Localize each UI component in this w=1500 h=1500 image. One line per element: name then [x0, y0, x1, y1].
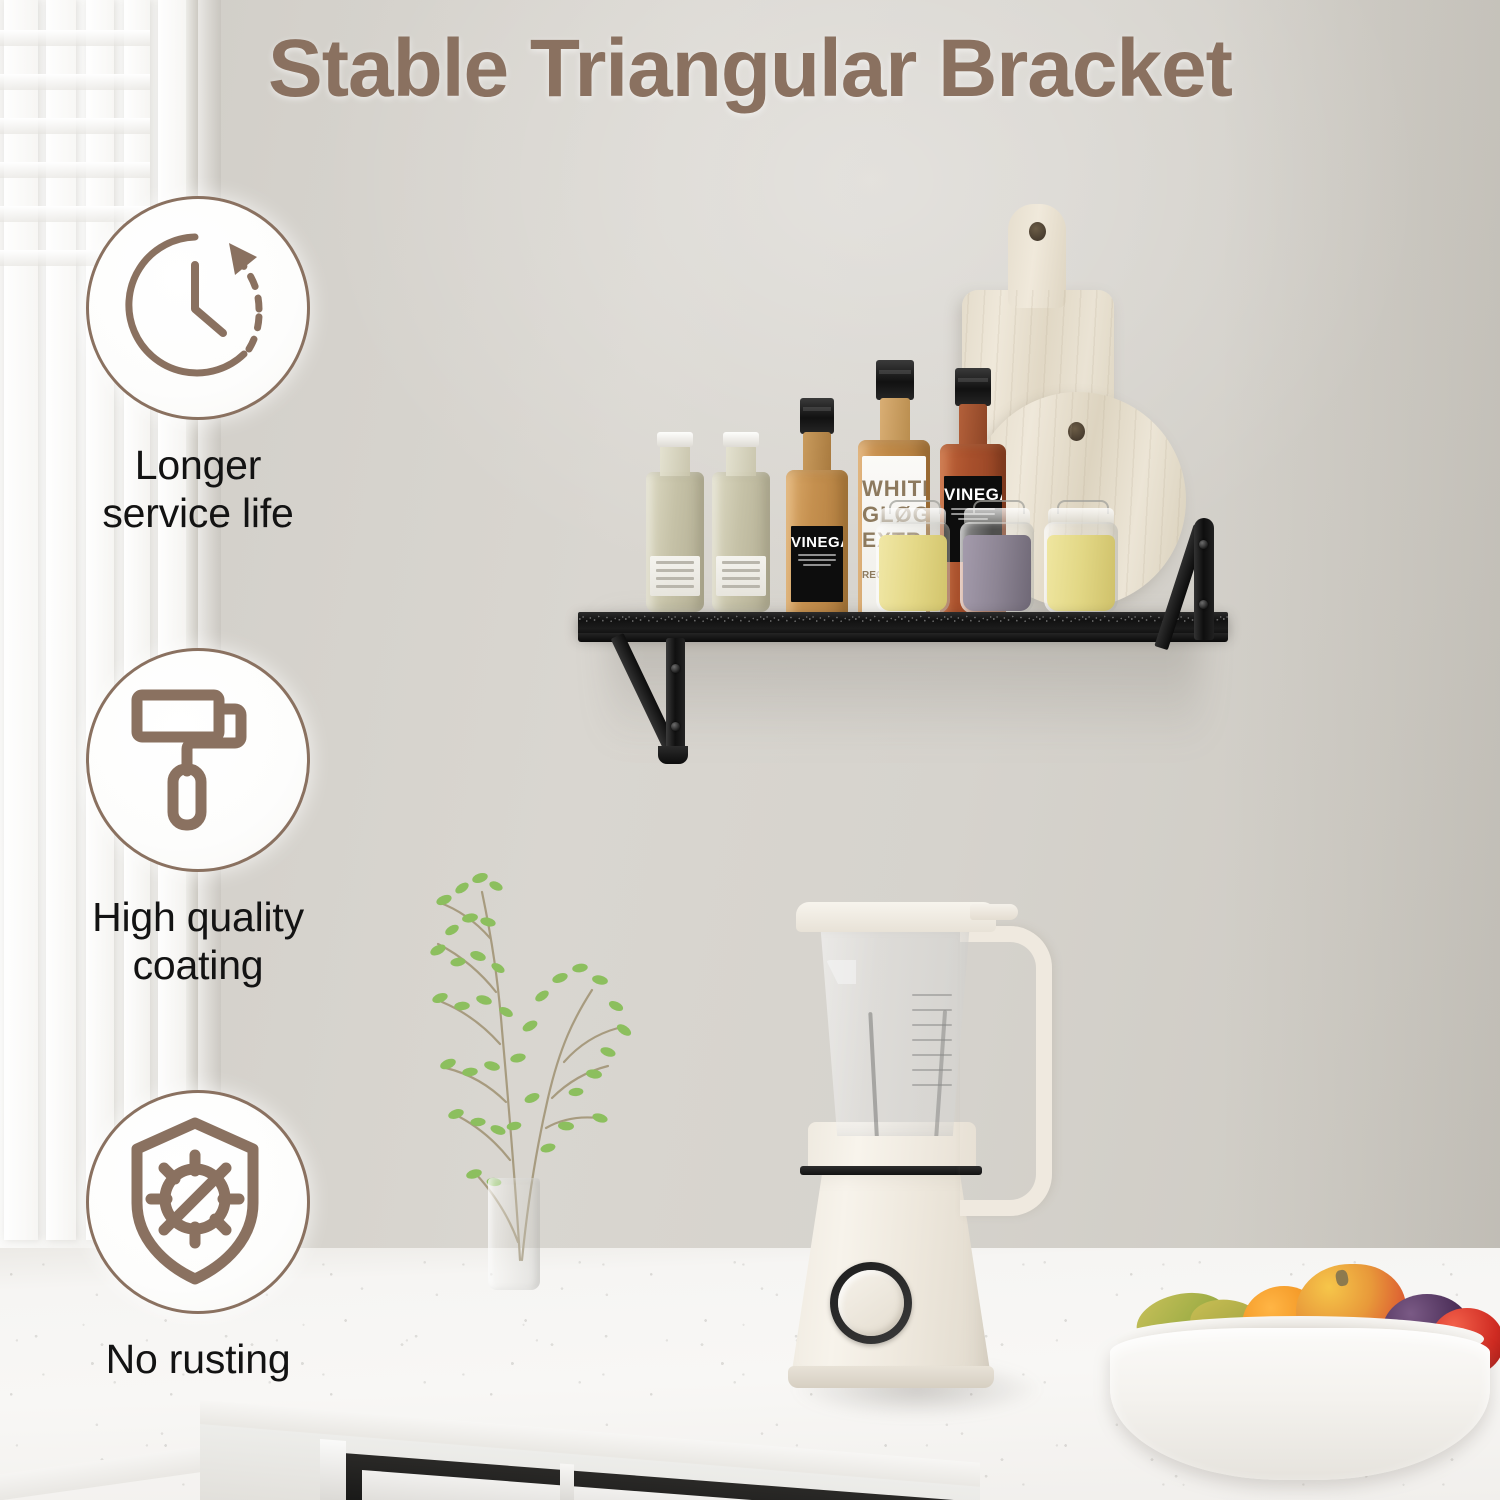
bottle-neck: [660, 444, 690, 476]
bracket-left-wall-plate: [666, 638, 685, 756]
blender-measurement-scale: [912, 994, 952, 1114]
shield-no-rust-icon: [86, 1090, 310, 1314]
milk-bottle-1: [646, 472, 704, 612]
feature-label-line2: coating: [58, 942, 338, 990]
blind-slat-group: [124, 0, 150, 1240]
blender-control-knob[interactable]: [830, 1262, 912, 1344]
bottle-cap: [723, 432, 759, 447]
bottle-neck: [726, 444, 756, 476]
bracket-right-wall-plate: [1194, 518, 1214, 640]
product-marketing-scene: VINEGAR WHITE GLØGG EXTRACT WE RECOMMEND…: [0, 0, 1500, 1500]
feature-high-quality-coating: High quality coating: [58, 648, 338, 989]
bottle-cap: [657, 432, 693, 447]
storage-jar-yellow: [876, 522, 950, 614]
vinegar-bottle-left: VINEGAR: [786, 398, 848, 638]
bottle-label: [650, 556, 700, 596]
feature-label-line2: service life: [58, 490, 338, 538]
bottle-cap: [800, 398, 834, 434]
feature-longer-service-life: Longer service life: [58, 196, 338, 537]
bracket-screw: [1199, 600, 1208, 609]
storage-jar-grey: [960, 522, 1034, 614]
feature-label-line1: Longer: [58, 442, 338, 490]
bowl-body: [1110, 1328, 1490, 1480]
storage-jar-mixed: [1044, 522, 1118, 614]
feature-label-line1: No rusting: [58, 1336, 338, 1384]
bottle-cap: [876, 360, 914, 400]
jar-contents: [963, 535, 1031, 611]
blender-knob-face[interactable]: [838, 1270, 904, 1336]
paint-roller-icon: [86, 648, 310, 872]
bracket-left-foot: [658, 746, 688, 764]
vinegar-label: VINEGAR: [791, 526, 843, 602]
blender-black-ring: [800, 1166, 982, 1175]
feature-no-rusting: No rusting: [58, 1090, 338, 1384]
vinegar-label-text: VINEGAR: [791, 534, 843, 551]
bottle-cap: [955, 368, 991, 406]
glogg-label-line1: WHITE: [862, 478, 926, 500]
feature-label-no-rusting: No rusting: [58, 1336, 338, 1384]
bracket-screw: [1199, 540, 1208, 549]
bracket-screw: [671, 722, 680, 731]
countertop-blender: [782, 890, 1062, 1420]
bracket-screw: [671, 664, 680, 673]
jar-contents: [879, 535, 947, 611]
milk-bottle-2: [712, 472, 770, 612]
blind-slat-group: [4, 0, 38, 1240]
bottle-neck: [880, 398, 910, 446]
blender-lid[interactable]: [796, 902, 996, 932]
bottle-label: [716, 556, 766, 596]
blind-horizontal-slat: [0, 162, 150, 178]
page-title: Stable Triangular Bracket: [0, 22, 1500, 116]
cabinet-mullion: [560, 1463, 574, 1500]
fruit-bowl: [1110, 1250, 1490, 1480]
blender-lid-tab[interactable]: [970, 904, 1018, 920]
blender-jar: [810, 924, 980, 1136]
jar-contents: [1047, 535, 1115, 611]
cutting-board-hang-hole: [1029, 222, 1046, 241]
feature-label-line1: High quality: [58, 894, 338, 942]
wall-shelf-assembly: VINEGAR WHITE GLØGG EXTRACT WE RECOMMEND…: [570, 170, 1270, 790]
blind-slat-group: [86, 0, 114, 1240]
feature-label-high-quality-coating: High quality coating: [58, 894, 338, 989]
shelf-drop-shadow: [610, 625, 1200, 745]
blender-jar-handle[interactable]: [960, 926, 1052, 1216]
blind-slat-group: [46, 0, 76, 1240]
blind-horizontal-slat: [0, 118, 150, 134]
blender-blade-shaft: [868, 1012, 879, 1154]
glass-vase: [488, 1178, 540, 1290]
blender-pour-spout: [826, 960, 856, 984]
branch-plant-in-glass-vase: [370, 830, 690, 1310]
feature-label-longer-service-life: Longer service life: [58, 442, 338, 537]
cabinet-stile: [320, 1439, 346, 1500]
blender-base-bottom: [788, 1366, 994, 1388]
clock-rotate-icon: [86, 196, 310, 420]
